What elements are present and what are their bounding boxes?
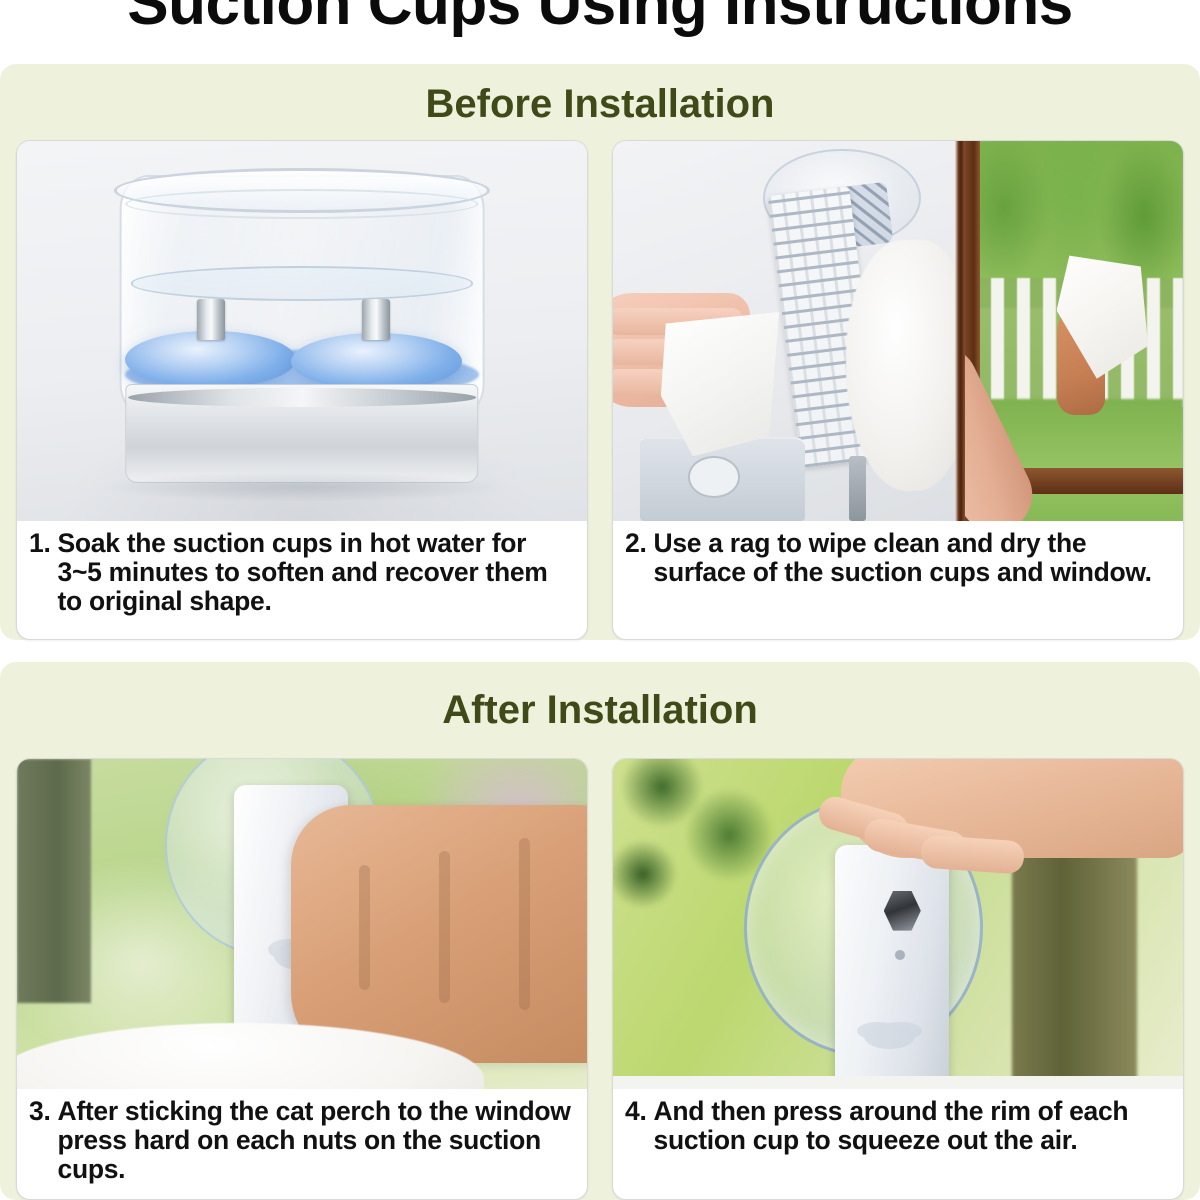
section-after-installation: After Installation: [0, 662, 1200, 1200]
bracket-tray-hole: [688, 456, 739, 498]
metal-stud-right: [362, 299, 391, 341]
section-before-installation: Before Installation: [0, 64, 1200, 640]
step-card-4: 4. And then press around the rim of each…: [612, 758, 1184, 1200]
step-2-caption: 2. Use a rag to wipe clean and dry the s…: [613, 521, 1183, 639]
step-3-text: After sticking the cat perch to the wind…: [58, 1097, 577, 1184]
section-title-after: After Installation: [0, 662, 1200, 733]
step-1-caption: 1. Soak the suction cups in hot water fo…: [17, 521, 587, 639]
step-3-image: [17, 759, 587, 1089]
instruction-infographic: Suction Cups Using Instructions Before I…: [0, 0, 1200, 1200]
step-card-2: 2. Use a rag to wipe clean and dry the s…: [612, 140, 1184, 640]
water-surface-line: [131, 266, 473, 300]
chrome-base-ring: [128, 388, 476, 407]
tree-trunk: [1012, 818, 1137, 1089]
step-2-number: 2.: [625, 529, 647, 558]
step-1-image: [17, 141, 587, 521]
step-1-text: Soak the suction cups in hot water for 3…: [58, 529, 577, 616]
gray-bracket: [835, 845, 949, 1089]
step-1-number: 1.: [29, 529, 51, 558]
step-2-text: Use a rag to wipe clean and dry the surf…: [654, 529, 1173, 587]
step-4-caption: 4. And then press around the rim of each…: [613, 1089, 1183, 1199]
white-cloth-rag: [661, 312, 784, 456]
bowl-drop-shadow: [97, 472, 507, 502]
photo-soaking-bowl: [17, 141, 587, 521]
blue-suction-cup-right: [291, 333, 462, 390]
step-4-image: [613, 759, 1183, 1089]
finger-gap-3: [359, 865, 370, 990]
photo-wipe-bracket: [613, 141, 955, 521]
step-3-number: 3.: [29, 1097, 51, 1126]
finger-gap-2: [439, 851, 450, 1003]
step-3-caption: 3. After sticking the cat perch to the w…: [17, 1089, 587, 1199]
cards-row-before: 1. Soak the suction cups in hot water fo…: [0, 140, 1200, 640]
step-2-image: [613, 141, 1183, 521]
photo-wipe-window: [965, 141, 1183, 521]
page-title: Suction Cups Using Instructions: [0, 0, 1200, 44]
photo-press-nut: [17, 759, 587, 1089]
metal-stud-left: [197, 299, 226, 341]
step-card-3: 3. After sticking the cat perch to the w…: [16, 758, 588, 1200]
metal-clip: [849, 456, 866, 521]
photo-bottom-strip: [613, 1076, 1183, 1089]
photo-press-rim: [613, 759, 1183, 1089]
step-card-1: 1. Soak the suction cups in hot water fo…: [16, 140, 588, 640]
cards-row-after: 3. After sticking the cat perch to the w…: [0, 758, 1200, 1200]
section-title-before: Before Installation: [0, 64, 1200, 127]
window-post: [17, 759, 91, 1003]
step-4-text: And then press around the rim of each su…: [654, 1097, 1173, 1155]
window-frame-divider: [955, 141, 965, 521]
finger-gap-1: [519, 838, 530, 1010]
step-4-number: 4.: [625, 1097, 647, 1126]
